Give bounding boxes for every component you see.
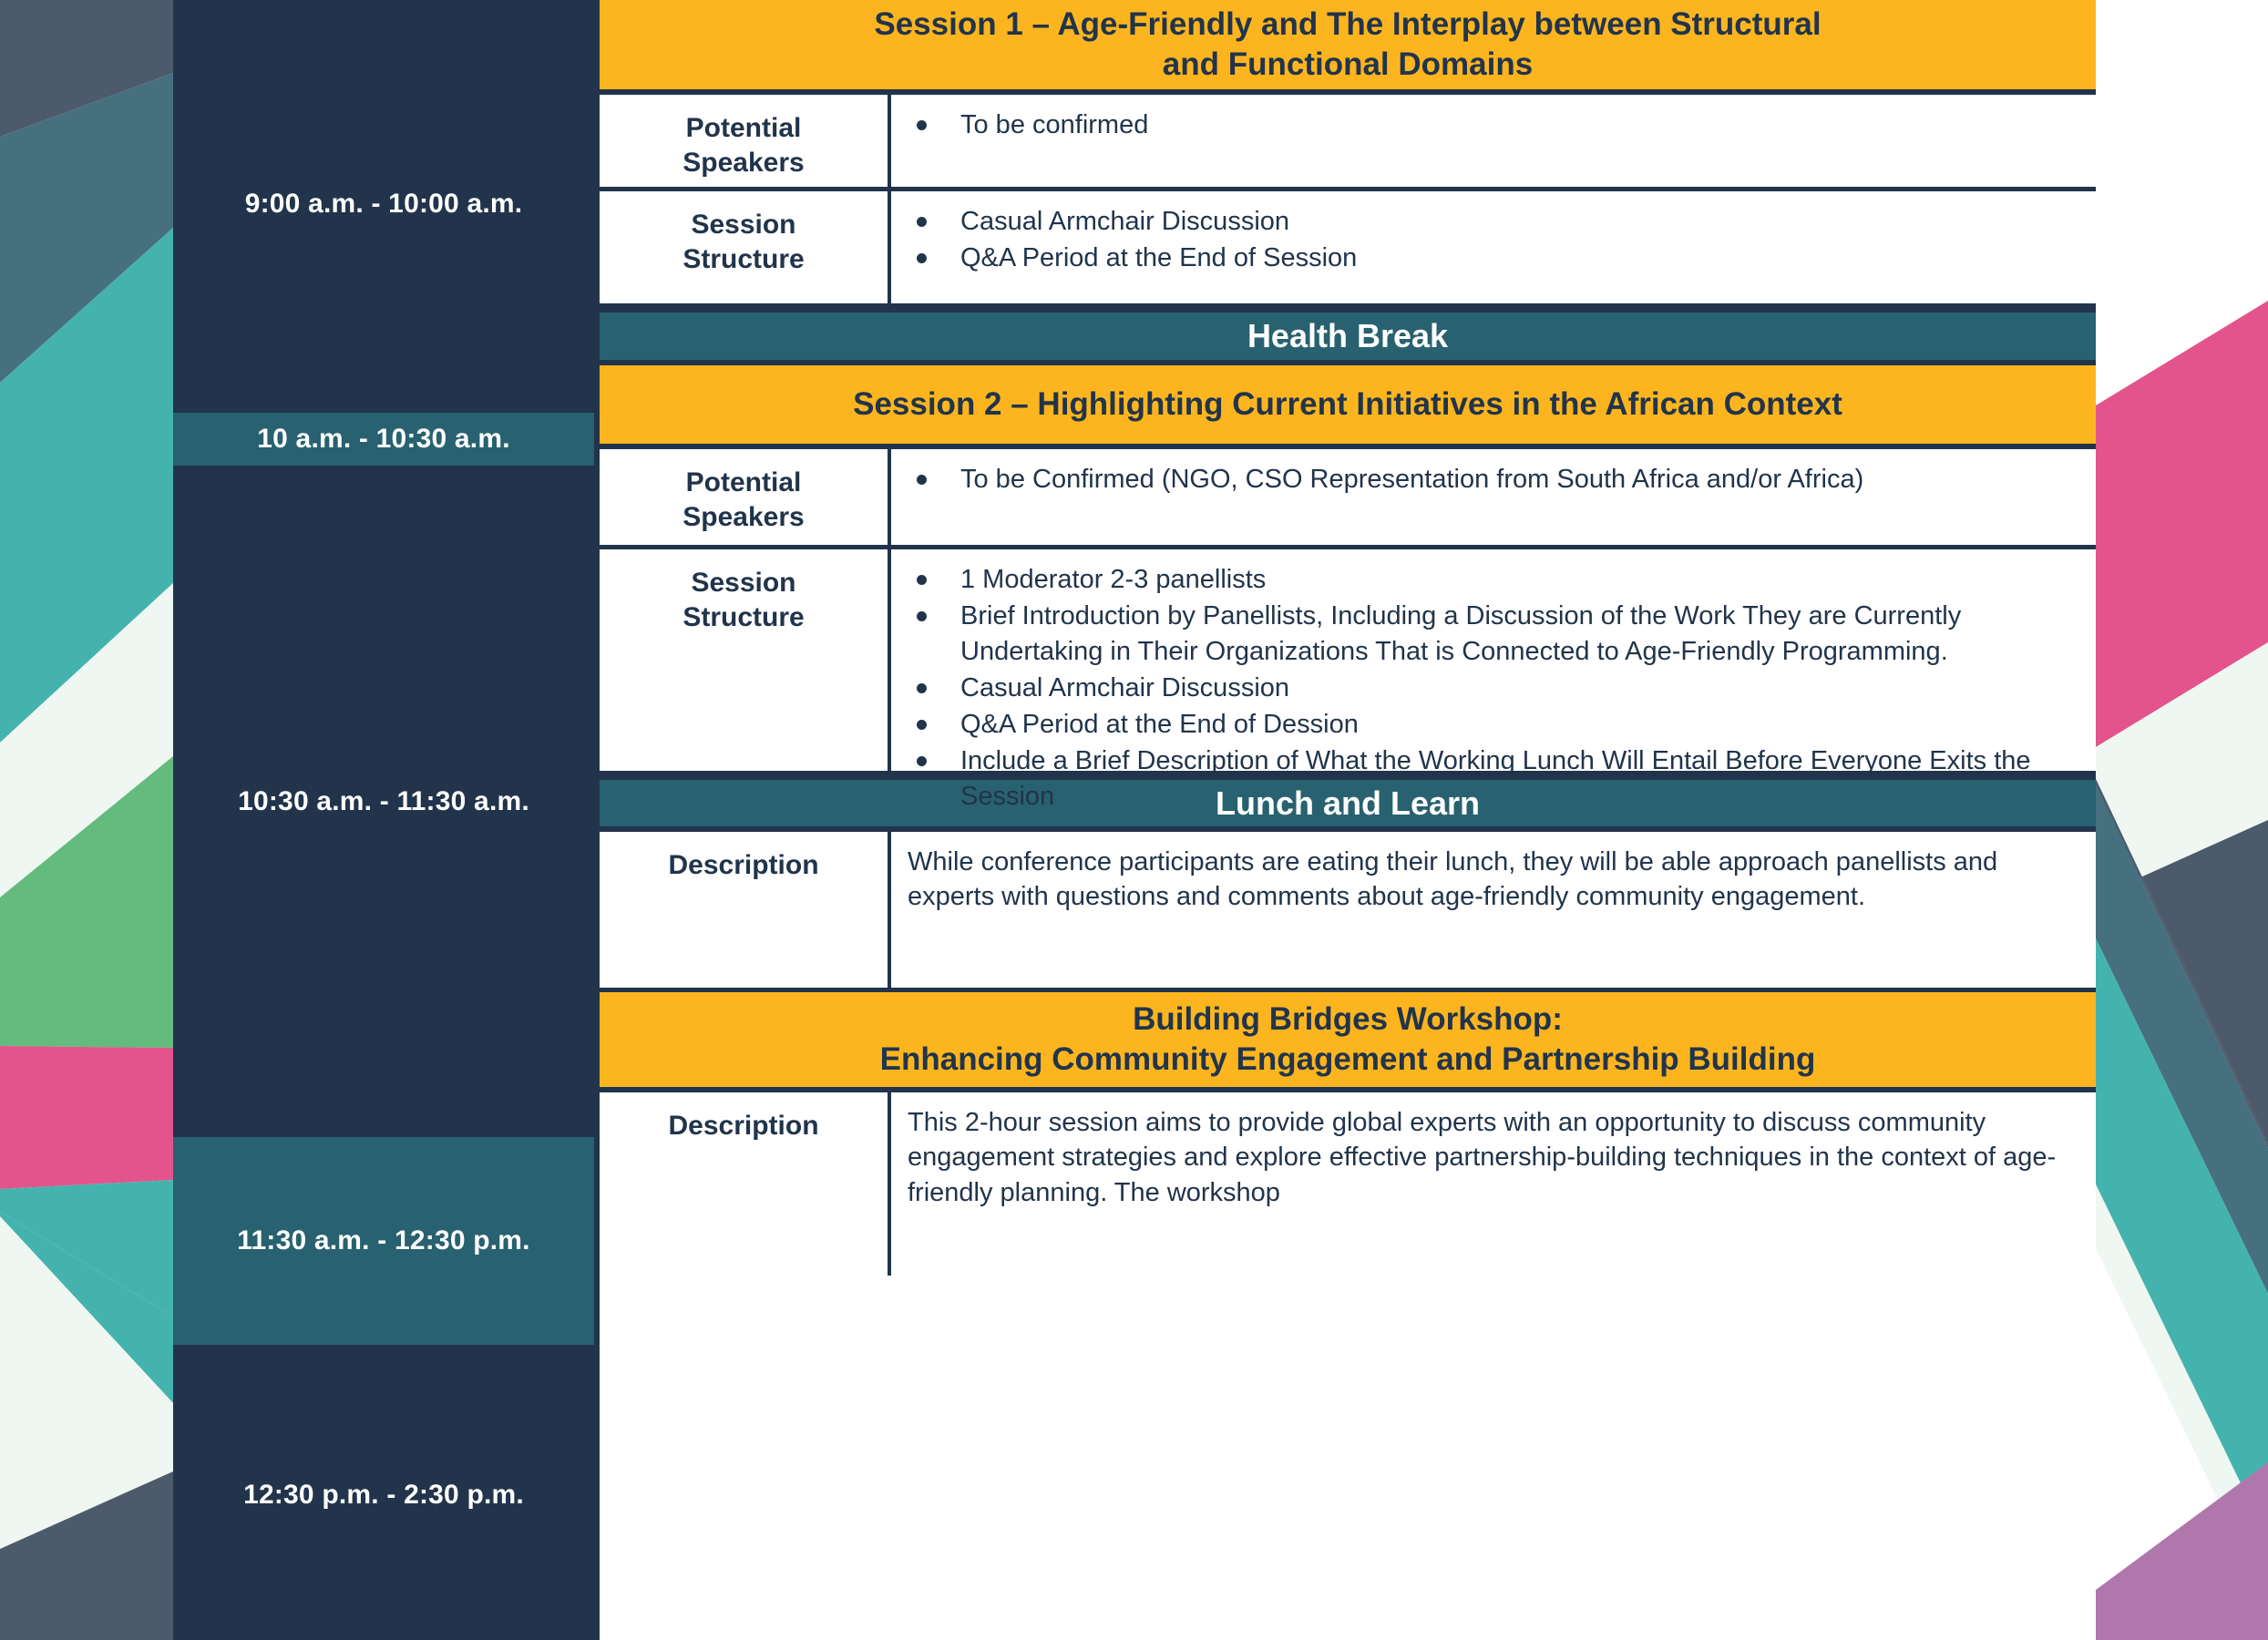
- list-item: Casual Armchair Discussion: [908, 204, 2072, 239]
- lunch-description-label: Description: [600, 832, 891, 988]
- time-column: 9:00 a.m. - 10:00 a.m. 10 a.m. - 10:30 a…: [173, 0, 594, 1640]
- paragraph: This 2-hour session aims to provide glob…: [908, 1105, 2072, 1210]
- lunch-description-content: While conference participants are eating…: [891, 832, 2096, 988]
- label-line1: Session: [682, 566, 804, 600]
- workshop-title-line2: Enhancing Community Engagement and Partn…: [880, 1040, 1816, 1080]
- label-line1: Session: [682, 208, 804, 242]
- bullet-list: 1 Moderator 2-3 panellists Brief Introdu…: [908, 562, 2072, 814]
- session2-speakers-row: Potential Speakers To be Confirmed (NGO,…: [600, 449, 2096, 549]
- session1-speakers-row: Potential Speakers To be confirmed: [600, 95, 2096, 191]
- list-item: 1 Moderator 2-3 panellists: [908, 562, 2072, 597]
- lunch-description-row: Description While conference participant…: [600, 832, 2096, 992]
- health-break-banner: Health Break: [600, 308, 2096, 365]
- list-item: To be confirmed: [908, 108, 2072, 142]
- session2-title-banner: Session 2 – Highlighting Current Initiat…: [600, 365, 2096, 449]
- session1-structure-row: Session Structure Casual Armchair Discus…: [600, 191, 2096, 308]
- label-line2: Structure: [682, 242, 804, 277]
- list-item: To be Confirmed (NGO, CSO Representation…: [908, 462, 2072, 497]
- workshop-title-banner: Building Bridges Workshop: Enhancing Com…: [600, 992, 2096, 1092]
- label-line2: Speakers: [682, 146, 804, 180]
- decorative-chevrons-left: [0, 0, 173, 1640]
- session1-title-line1: Session 1 – Age-Friendly and The Interpl…: [874, 5, 1821, 45]
- workshop-title-line1: Building Bridges Workshop:: [880, 999, 1816, 1040]
- session1-speakers-content: To be confirmed: [891, 95, 2096, 187]
- session2-structure-label: Session Structure: [600, 549, 891, 771]
- decorative-chevrons-right: [2096, 0, 2268, 1640]
- session1-title-banner: Session 1 – Age-Friendly and The Interpl…: [600, 0, 2096, 95]
- label-line2: Structure: [682, 600, 804, 635]
- bullet-list: To be confirmed: [908, 108, 2072, 142]
- workshop-description-content: This 2-hour session aims to provide glob…: [891, 1092, 2096, 1276]
- list-item: Casual Armchair Discussion: [908, 671, 2072, 705]
- list-item: Brief Introduction by Panellists, Includ…: [908, 599, 2072, 669]
- bullet-list: To be Confirmed (NGO, CSO Representation…: [908, 462, 2072, 497]
- agenda-page: 9:00 a.m. - 10:00 a.m. 10 a.m. - 10:30 a…: [0, 0, 2268, 1640]
- session2-speakers-label: Potential Speakers: [600, 449, 891, 545]
- label-line1: Potential: [682, 466, 804, 500]
- session2-speakers-content: To be Confirmed (NGO, CSO Representation…: [891, 449, 2096, 545]
- time-slot-session2: 10:30 a.m. - 11:30 a.m.: [173, 470, 594, 1133]
- time-slot-session1: 9:00 a.m. - 10:00 a.m.: [173, 0, 594, 408]
- session1-title-line2: and Functional Domains: [874, 45, 1821, 85]
- agenda-table: 9:00 a.m. - 10:00 a.m. 10 a.m. - 10:30 a…: [173, 0, 2096, 1640]
- workshop-description-label: Description: [600, 1092, 891, 1276]
- time-slot-health-break: 10 a.m. - 10:30 a.m.: [173, 408, 594, 470]
- session1-structure-content: Casual Armchair Discussion Q&A Period at…: [891, 191, 2096, 303]
- workshop-description-row: Description This 2-hour session aims to …: [600, 1092, 2096, 1276]
- bullet-list: Casual Armchair Discussion Q&A Period at…: [908, 204, 2072, 276]
- time-slot-workshop: 12:30 p.m. - 2:30 p.m.: [173, 1349, 594, 1640]
- label-line1: Potential: [682, 111, 804, 146]
- session1-structure-label: Session Structure: [600, 191, 891, 303]
- label-line2: Speakers: [682, 500, 804, 535]
- list-item: Q&A Period at the End of Dession: [908, 707, 2072, 742]
- list-item: Include a Brief Description of What the …: [908, 743, 2072, 814]
- paragraph: While conference participants are eating…: [908, 845, 2072, 915]
- session-column: Session 1 – Age-Friendly and The Interpl…: [594, 0, 2096, 1640]
- session2-structure-content: 1 Moderator 2-3 panellists Brief Introdu…: [891, 549, 2096, 771]
- time-slot-lunch: 11:30 a.m. - 12:30 p.m.: [173, 1133, 594, 1349]
- session1-speakers-label: Potential Speakers: [600, 95, 891, 187]
- session2-structure-row: Session Structure 1 Moderator 2-3 panell…: [600, 549, 2096, 775]
- list-item: Q&A Period at the End of Session: [908, 241, 2072, 275]
